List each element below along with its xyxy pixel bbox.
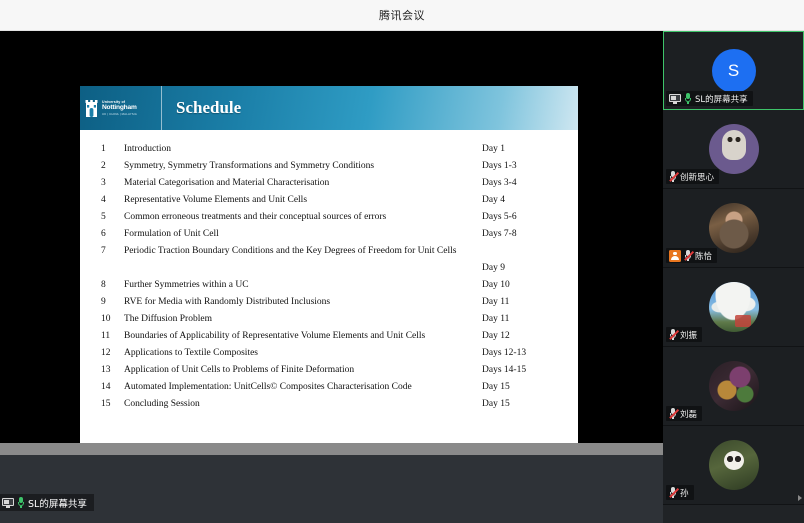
schedule-topic: The Diffusion Problem: [124, 314, 482, 324]
avatar-image-photo: [709, 203, 759, 253]
schedule-topic: Representative Volume Elements and Unit …: [124, 195, 482, 205]
schedule-list: 1 Introduction Day 1 2 Symmetry, Symmetr…: [80, 130, 578, 416]
schedule-row-day-continuation: Day 9: [98, 263, 556, 280]
slide-header: University of Nottingham UK | CHINA | MA…: [80, 86, 578, 130]
avatar-image-sky: [709, 282, 759, 332]
schedule-number: 3: [98, 178, 124, 188]
schedule-row: 5 Common erroneous treatments and their …: [98, 212, 556, 229]
screen-share-label: SL的屏幕共享: [28, 496, 87, 510]
schedule-topic: Material Categorisation and Material Cha…: [124, 178, 482, 188]
shared-screen-stage[interactable]: University of Nottingham UK | CHINA | MA…: [0, 31, 663, 523]
schedule-number: 9: [98, 297, 124, 307]
schedule-number: 13: [98, 365, 124, 375]
screen-share-icon: [2, 498, 14, 508]
schedule-topic: Applications to Textile Composites: [124, 348, 482, 358]
schedule-day: Day 1: [482, 144, 556, 154]
schedule-topic: Application of Unit Cells to Problems of…: [124, 365, 482, 375]
participant-tile[interactable]: 陈恰: [663, 189, 804, 268]
participant-label: 创新思心: [666, 169, 719, 184]
castle-crest-icon: [85, 98, 98, 118]
participant-name: SL的屏幕共享: [695, 93, 748, 105]
logo-name-line: Nottingham: [102, 105, 137, 112]
avatar-image-panda: [709, 440, 759, 490]
avatar-image-dark: [709, 361, 759, 411]
screen-share-icon: [669, 94, 681, 104]
schedule-row: 11 Boundaries of Applicability of Repres…: [98, 331, 556, 348]
host-badge-icon: [669, 250, 681, 262]
participant-name: 孙: [680, 487, 689, 499]
schedule-day: Days 5-6: [482, 212, 556, 222]
schedule-day: Days 3-4: [482, 178, 556, 188]
participant-filmstrip[interactable]: S SL的屏幕共享 创新思心 陈恰: [663, 31, 804, 523]
schedule-number: 12: [98, 348, 124, 358]
avatar: [709, 440, 759, 490]
schedule-topic: Formulation of Unit Cell: [124, 229, 482, 239]
slide-title: Schedule: [176, 98, 241, 118]
schedule-day: Day 12: [482, 331, 556, 341]
schedule-day: Day 15: [482, 399, 556, 409]
microphone-muted-icon: [669, 329, 677, 340]
schedule-number: 11: [98, 331, 124, 341]
schedule-number: 6: [98, 229, 124, 239]
participant-label: 陈恰: [666, 248, 717, 263]
schedule-day: Day 4: [482, 195, 556, 205]
participant-name: 创新思心: [680, 171, 714, 183]
presentation-slide: University of Nottingham UK | CHINA | MA…: [80, 86, 578, 443]
schedule-row: 3 Material Categorisation and Material C…: [98, 178, 556, 195]
participant-tile[interactable]: 创新思心: [663, 110, 804, 189]
participant-label: 刘磊: [666, 406, 702, 421]
schedule-topic: Symmetry, Symmetry Transformations and S…: [124, 161, 482, 171]
avatar: [709, 282, 759, 332]
schedule-day: Days 12-13: [482, 348, 556, 358]
microphone-muted-icon: [684, 250, 692, 261]
participant-label: 孙: [666, 485, 694, 500]
participant-name: 刘磊: [680, 408, 697, 420]
participant-tile[interactable]: 孙: [663, 426, 804, 505]
window-title-bar: 腾讯会议: [0, 0, 804, 31]
schedule-row: 15 Concluding Session Day 15: [98, 399, 556, 416]
avatar: [709, 124, 759, 174]
avatar-initial: S: [712, 49, 756, 93]
schedule-topic: Periodic Traction Boundary Conditions an…: [124, 246, 556, 256]
participant-tile[interactable]: S SL的屏幕共享: [663, 31, 804, 110]
university-logo: University of Nottingham UK | CHINA | MA…: [80, 86, 162, 130]
schedule-number: 10: [98, 314, 124, 324]
schedule-number: 7: [98, 246, 124, 256]
avatar: S: [712, 49, 756, 93]
microphone-muted-icon: [669, 487, 677, 498]
university-logo-text: University of Nottingham UK | CHINA | MA…: [102, 101, 137, 116]
schedule-topic: RVE for Media with Randomly Distributed …: [124, 297, 482, 307]
schedule-row: 4 Representative Volume Elements and Uni…: [98, 195, 556, 212]
microphone-on-icon: [684, 93, 692, 104]
schedule-day: Days 1-3: [482, 161, 556, 171]
stage-divider: [0, 443, 663, 455]
schedule-row: 10 The Diffusion Problem Day 11: [98, 314, 556, 331]
schedule-number: 8: [98, 280, 124, 290]
participant-name: 陈恰: [695, 250, 712, 262]
schedule-topic: Automated Implementation: UnitCells© Com…: [124, 382, 482, 392]
schedule-row: 6 Formulation of Unit Cell Days 7-8: [98, 229, 556, 246]
avatar: [709, 203, 759, 253]
schedule-row: 14 Automated Implementation: UnitCells© …: [98, 382, 556, 399]
logo-campuses-line: UK | CHINA | MALAYSIA: [102, 113, 137, 116]
schedule-day: Day 10: [482, 280, 556, 290]
participant-label: SL的屏幕共享: [666, 91, 753, 106]
schedule-row: 12 Applications to Textile Composites Da…: [98, 348, 556, 365]
avatar-image-owl: [709, 124, 759, 174]
window-title: 腾讯会议: [379, 7, 425, 23]
microphone-muted-icon: [669, 408, 677, 419]
schedule-number: 2: [98, 161, 124, 171]
meeting-body: University of Nottingham UK | CHINA | MA…: [0, 31, 804, 523]
schedule-topic: Concluding Session: [124, 399, 482, 409]
microphone-on-icon: [17, 497, 25, 508]
participant-tile[interactable]: 刘振: [663, 268, 804, 347]
schedule-row: 7 Periodic Traction Boundary Conditions …: [98, 246, 556, 263]
schedule-topic: Common erroneous treatments and their co…: [124, 212, 482, 222]
schedule-topic: Further Symmetries within a UC: [124, 280, 482, 290]
schedule-day: Day 11: [482, 314, 556, 324]
filmstrip-scroll-arrow-icon[interactable]: [798, 495, 802, 501]
spacer: [98, 263, 482, 280]
microphone-muted-icon: [669, 171, 677, 182]
schedule-number: 1: [98, 144, 124, 154]
schedule-row: 2 Symmetry, Symmetry Transformations and…: [98, 161, 556, 178]
schedule-topic: Boundaries of Applicability of Represent…: [124, 331, 482, 341]
schedule-number: 14: [98, 382, 124, 392]
participant-name: 刘振: [680, 329, 697, 341]
schedule-day: Day 9: [482, 263, 556, 280]
schedule-number: 15: [98, 399, 124, 409]
schedule-day: Days 14-15: [482, 365, 556, 375]
schedule-row: 1 Introduction Day 1: [98, 144, 556, 161]
schedule-row: 9 RVE for Media with Randomly Distribute…: [98, 297, 556, 314]
shared-screen-canvas: University of Nottingham UK | CHINA | MA…: [0, 31, 663, 443]
schedule-number: 4: [98, 195, 124, 205]
participant-tile[interactable]: 刘磊: [663, 347, 804, 426]
schedule-row: 13 Application of Unit Cells to Problems…: [98, 365, 556, 382]
schedule-row: 8 Further Symmetries within a UC Day 10: [98, 280, 556, 297]
schedule-day: Days 7-8: [482, 229, 556, 239]
participant-label: 刘振: [666, 327, 702, 342]
avatar: [709, 361, 759, 411]
schedule-day: Day 15: [482, 382, 556, 392]
schedule-day: Day 11: [482, 297, 556, 307]
schedule-topic: Introduction: [124, 144, 482, 154]
screen-share-banner: SL的屏幕共享: [0, 494, 94, 511]
schedule-number: 5: [98, 212, 124, 222]
